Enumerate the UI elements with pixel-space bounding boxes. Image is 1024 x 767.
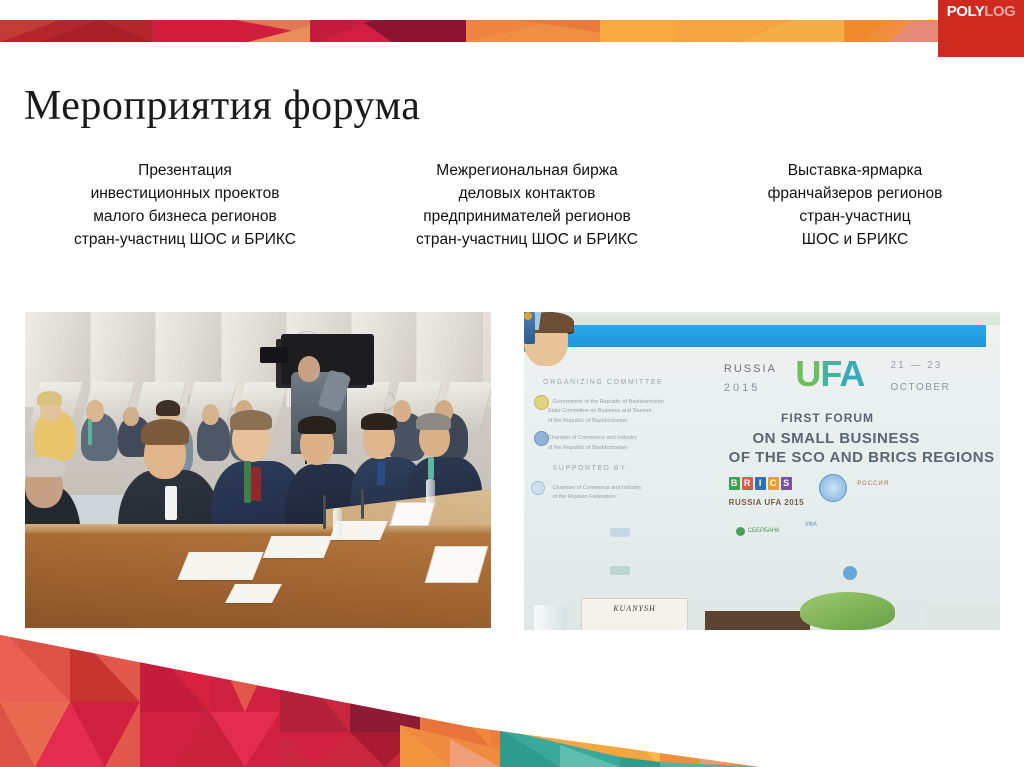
org-line: of the Republic of Bashkortostan [548,444,628,452]
caption-line: малого бизнеса регионов [25,206,345,229]
microphone [323,495,326,529]
brics-caption: RUSSIA UFA 2015 [729,498,804,507]
logo-poly-part: POLY [947,3,984,20]
brics-logo-icon: B R I C S [729,477,792,490]
delegate-hair [298,416,336,434]
sponsor-emblem-icon [610,566,630,575]
sponsor-label: РОССИЯ [857,481,889,487]
roundtable-photo-content [25,312,491,628]
brics-letter: I [755,477,766,490]
sponsor-label: УФА [805,522,817,528]
lanyard [244,461,251,503]
org-line: Chamber of Commerce and Industry [548,434,637,442]
caption-line: Межрегиональная биржа [377,160,677,183]
brics-letter: B [729,477,740,490]
delegate-shirt [165,486,177,520]
caption-line: предпринимателей регионов [377,206,677,229]
paper-sheet [225,584,282,603]
name-card [390,502,436,526]
backdrop-country: RUSSIA [724,363,777,375]
sponsor-emblem-icon [736,527,745,536]
backdrop-top-strip [524,312,1000,325]
backdrop-dates: 21 — 23 [891,360,943,371]
lanyard [428,457,434,479]
caption-line: стран-участниц [715,206,995,229]
caption-presentation: Презентация инвестиционных проектов мало… [15,160,355,252]
backdrop-headline-3: OF THE SCO AND BRICS REGIONS [729,449,995,466]
emblem-seal-icon [534,395,549,410]
bottom-mosaic-icon [0,607,1024,767]
delegate-hair [230,410,272,430]
backdrop-month: OCTOBER [891,382,951,393]
sponsor-label: СБЕРБАНК [748,528,780,534]
roundtable-conference-photo [25,312,491,628]
brics-letter: C [768,477,779,490]
backdrop-blue-band [538,325,985,347]
emblem-seal-icon [531,481,545,495]
delegate-hair [141,419,189,445]
logo-log-part: LOG [984,3,1015,20]
org-line: of the Republic of Bashkortostan [548,417,628,425]
sponsor-emblem-icon [610,528,630,537]
paper-sheet [178,552,264,580]
caption-line: инвестиционных проектов [25,183,345,206]
background-person-hair [37,391,62,406]
handshake-photo-content: RUSSIA 2015 UFA 21 — 23 OCTOBER FIRST FO… [524,312,1000,630]
lapel-pin-icon [524,312,532,320]
water-bottle [333,508,342,538]
caption-row: Презентация инвестиционных проектов мало… [0,160,1024,280]
background-person-head [202,404,219,425]
caption-line: Выставка-ярмарка [715,160,995,183]
lanyard [88,419,92,445]
caption-line: деловых контактов [377,183,677,206]
delegate-hair [361,413,397,430]
caption-fair: Выставка-ярмарка франчайзеров регионов с… [705,160,1005,252]
polylog-logo-text: POLYLOG [947,4,1015,19]
brics-letter: S [781,477,792,490]
camera-lens-icon [260,347,288,363]
backdrop-headline-2: ON SMALL BUSINESS [752,430,919,447]
caption-line: ШОС и БРИКС [715,229,995,252]
necktie [377,461,385,485]
backdrop-year: 2015 [724,382,760,394]
caption-exchange: Межрегиональная биржа деловых контактов … [367,160,687,252]
org-line: Government of the Republic of Bashkortos… [553,398,664,406]
bottom-decorative-mosaic [0,607,1024,767]
support-line: Chamber of Commerce and Industry [553,484,642,492]
supported-by-title: SUPPORTED BY [553,465,627,472]
backdrop-headline-1: FIRST FORUM [781,411,874,425]
caption-line: Презентация [25,160,345,183]
org-line: State Committee on Business and Tourism [548,407,652,415]
handshake-forum-photo: RUSSIA 2015 UFA 21 — 23 OCTOBER FIRST FO… [524,312,1000,630]
name-card [425,546,489,583]
caption-line: стран-участниц ШОС и БРИКС [377,229,677,252]
microphone [361,489,364,519]
organizing-committee-title: ORGANIZING COMMITTEE [543,379,663,386]
top-bar-mosaic-tail-icon [600,20,938,42]
necktie [251,467,261,501]
background-person-hair [156,400,180,416]
caption-line: франчайзеров регионов [715,183,995,206]
delegate-hair [416,413,451,430]
support-line: of the Russian Federation [553,493,616,501]
top-decorative-bar-tail [600,20,938,42]
brics-letter: R [742,477,753,490]
caption-line: стран-участниц ШОС и БРИКС [25,229,345,252]
emblem-seal-icon [534,431,549,446]
water-bottle [426,479,435,505]
polylog-logo[interactable]: POLYLOG [938,0,1024,57]
paper-sheet [263,536,333,558]
camera-operator-head [298,356,320,382]
background-person-head [123,407,139,426]
foreground-hair [25,457,65,477]
slide-root: POLYLOG Мероприятия форума Презентация и… [0,0,1024,767]
ufa-logo-icon: UFA [795,353,864,395]
page-title: Мероприятия форума [24,82,420,130]
